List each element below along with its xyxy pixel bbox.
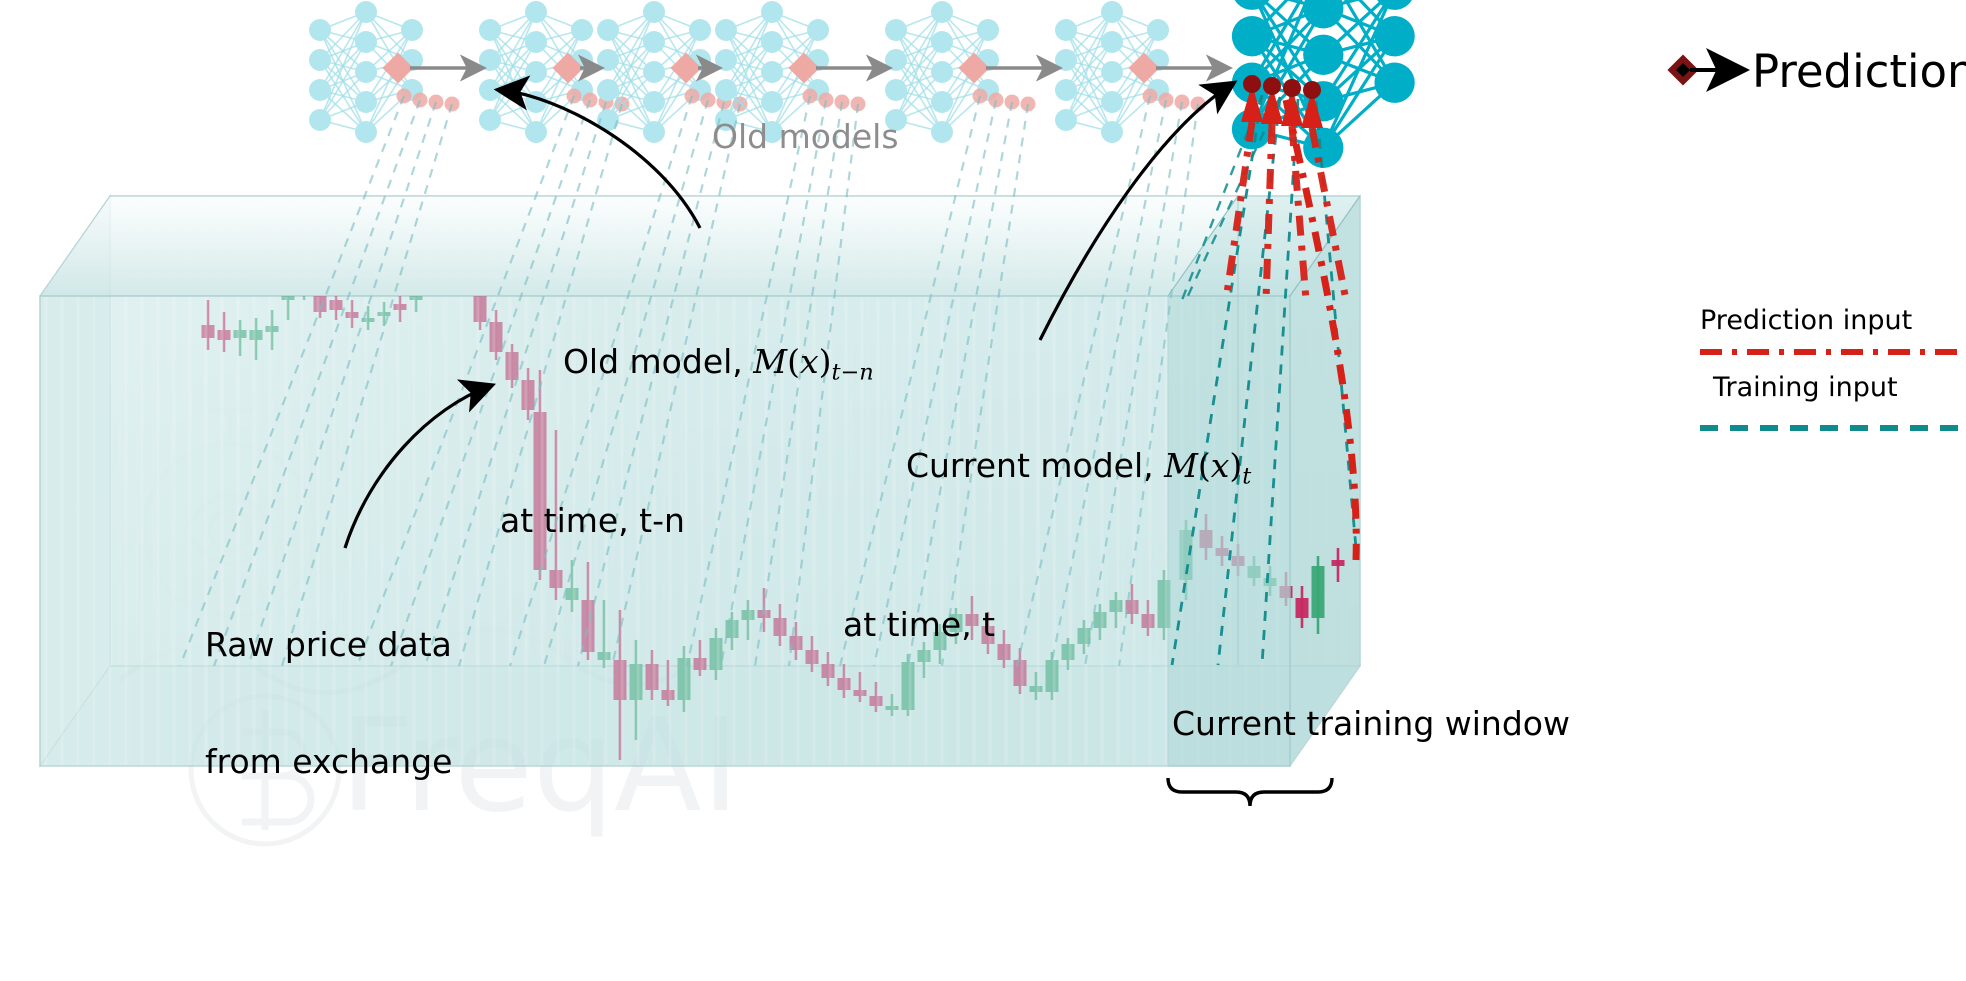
current-training-window-label: Current training window (1172, 705, 1570, 744)
old-model-math-paren-close: ) (819, 342, 832, 381)
raw-price-line1: Raw price data (205, 626, 452, 665)
current-model-math-x: x (1211, 446, 1230, 485)
legend-label-prediction-input: Prediction input (1700, 305, 1912, 337)
old-model-math-x: x (800, 342, 819, 381)
raw-price-line2: from exchange (205, 743, 452, 782)
old-model-math-paren-open: ( (787, 342, 800, 381)
old-models-label: Old models (712, 118, 899, 157)
current-model-prefix: Current model, (906, 446, 1164, 485)
legend-label-training-input: Training input (1713, 372, 1898, 404)
current-model-math-paren-open: ( (1198, 446, 1211, 485)
current-model-math-paren-close: ) (1229, 446, 1242, 485)
old-model-math-m: M (753, 342, 787, 381)
current-model-math-m: M (1164, 446, 1198, 485)
current-model-annotation: Current model, M(x)t at time, t (843, 330, 1251, 723)
old-model-prefix: Old model, (563, 342, 753, 381)
old-model-annotation: Old model, M(x)t−n at time, t-n (500, 226, 874, 619)
diagram-canvas: FreqAI (0, 0, 1966, 981)
prediction-label: Prediction (1752, 45, 1966, 98)
old-model-annotation-line1: Old model, M(x)t−n (500, 304, 874, 425)
current-model-network (1232, 0, 1699, 168)
current-model-annotation-line1: Current model, M(x)t (843, 408, 1251, 529)
training-window-brace (1168, 778, 1332, 806)
raw-price-annotation: Raw price data from exchange (205, 548, 452, 860)
current-model-annotation-line2: at time, t (843, 606, 1251, 645)
current-model-math-sub: t (1242, 463, 1251, 489)
old-model-annotation-line2: at time, t-n (500, 502, 874, 541)
